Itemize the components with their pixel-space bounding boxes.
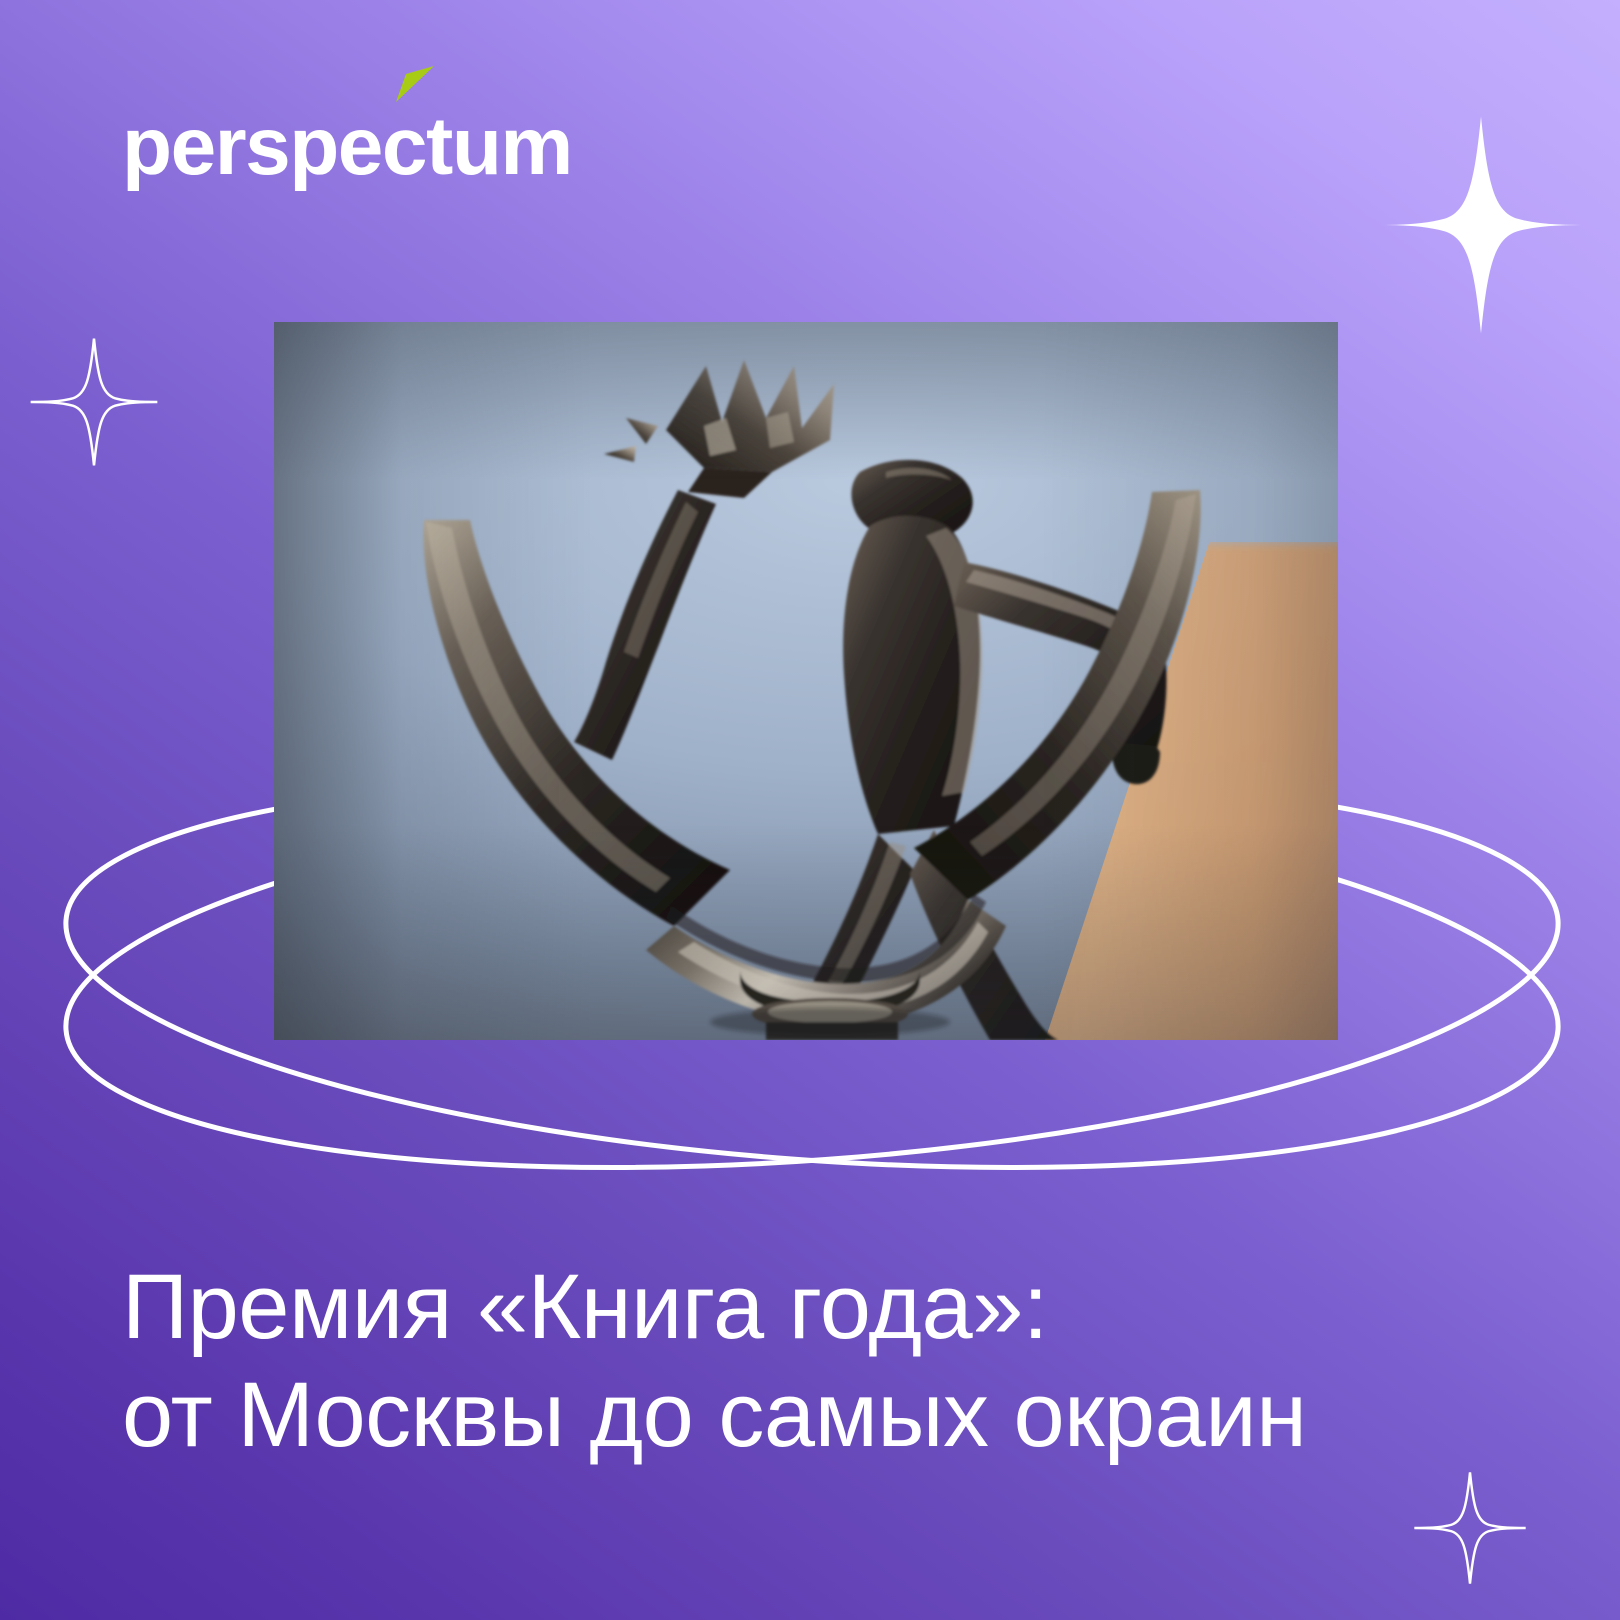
award-statue-photo (274, 322, 1338, 1040)
page-title: Премия «Книга года»: от Москвы до самых … (122, 1254, 1422, 1469)
photo-vignette (274, 322, 1338, 1040)
logo-accent-icon (390, 64, 436, 104)
sparkle-star-outline-icon (1412, 1470, 1528, 1586)
social-card: perspectum (0, 0, 1620, 1620)
brand-logo[interactable]: perspectum (122, 98, 572, 184)
logo-wordmark: perspectum (122, 109, 572, 184)
sparkle-star-icon (1368, 112, 1594, 338)
sparkle-star-outline-icon (28, 336, 160, 468)
